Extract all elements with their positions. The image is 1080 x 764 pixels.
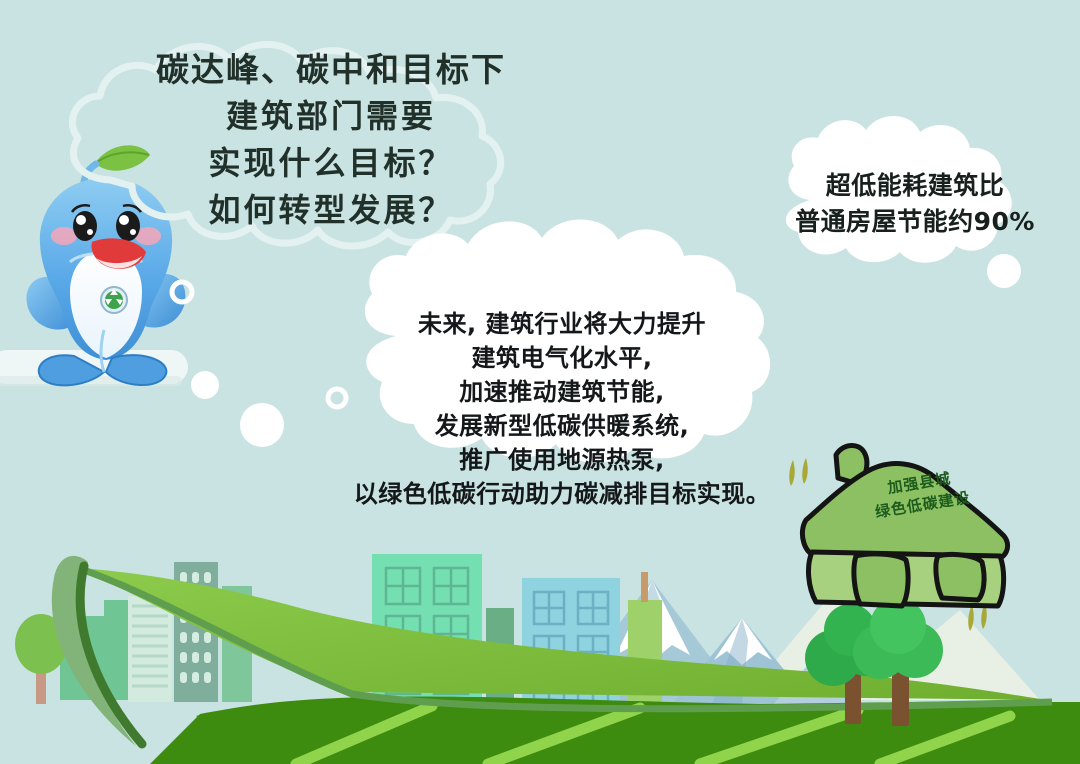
- title-line-2: 建筑部门需要: [96, 93, 566, 140]
- main-text-group: 未来, 建筑行业将大力提升 建筑电气化水平, 加速推动建筑节能, 发展新型低碳供…: [352, 307, 772, 511]
- stat-line-1: 超低能耗建筑比: [775, 168, 1055, 204]
- title-line-3: 实现什么目标？: [96, 140, 566, 187]
- house-window: [936, 554, 984, 600]
- bubble-solid-a: [191, 371, 219, 399]
- house-door: [854, 554, 908, 606]
- main-line-2: 建筑电气化水平,: [352, 341, 772, 375]
- main-line-6: 以绿色低碳行动助力碳减排目标实现。: [352, 477, 772, 511]
- title-text-group: 碳达峰、碳中和目标下 建筑部门需要 实现什么目标？ 如何转型发展？: [96, 46, 566, 234]
- recycling-badge: [101, 287, 127, 313]
- main-line-1: 未来, 建筑行业将大力提升: [352, 307, 772, 341]
- stat-text-group: 超低能耗建筑比 普通房屋节能约90%: [775, 168, 1055, 240]
- main-line-4: 发展新型低碳供暖系统,: [352, 409, 772, 443]
- main-line-3: 加速推动建筑节能,: [352, 375, 772, 409]
- title-line-1: 碳达峰、碳中和目标下: [96, 46, 566, 93]
- infographic-poster: 碳达峰、碳中和目标下 建筑部门需要 实现什么目标？ 如何转型发展？ 超低能耗建筑…: [0, 0, 1080, 764]
- main-line-5: 推广使用地源热泵,: [352, 443, 772, 477]
- stat-line-2: 普通房屋节能约90%: [775, 204, 1055, 240]
- striped-pale-tower: [128, 596, 172, 702]
- antenna-mast-right: [641, 572, 648, 602]
- bubble-solid-b: [240, 403, 284, 447]
- title-line-4: 如何转型发展？: [96, 187, 566, 234]
- bubble-stat-cloud: [987, 254, 1021, 288]
- mascot-cheek-left: [51, 227, 77, 245]
